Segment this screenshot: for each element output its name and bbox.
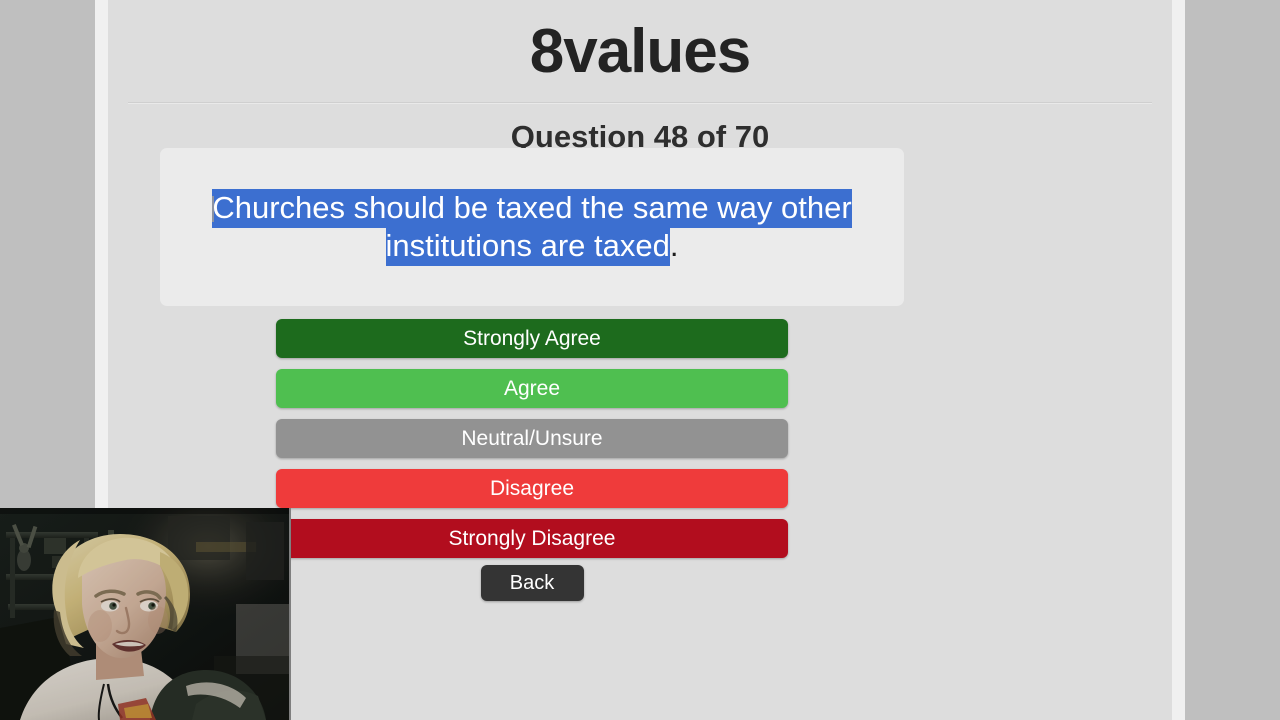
screen: 8values Question 48 of 70 Churches shoul… — [0, 0, 1280, 720]
question-text-selected[interactable]: Churches should be taxed the same way ot… — [212, 189, 851, 266]
answer-neutral-unsure[interactable]: Neutral/Unsure — [276, 419, 788, 458]
answer-strongly-disagree[interactable]: Strongly Disagree — [276, 519, 788, 558]
webcam-video-frame — [0, 508, 289, 720]
question-text-trailing: . — [670, 228, 679, 263]
back-button-container: Back — [276, 565, 788, 601]
page-edge-right — [1172, 0, 1185, 720]
answer-agree[interactable]: Agree — [276, 369, 788, 408]
browser-gutter-right — [1185, 0, 1280, 720]
question-card: Churches should be taxed the same way ot… — [160, 148, 904, 306]
text-caret — [212, 196, 214, 222]
webcam-overlay — [0, 508, 291, 720]
answer-disagree[interactable]: Disagree — [276, 469, 788, 508]
question-text[interactable]: Churches should be taxed the same way ot… — [187, 189, 877, 265]
answer-strongly-agree[interactable]: Strongly Agree — [276, 319, 788, 358]
answer-options: Strongly Agree Agree Neutral/Unsure Disa… — [276, 319, 788, 569]
back-button[interactable]: Back — [481, 565, 584, 601]
page-title: 8values — [108, 0, 1172, 88]
